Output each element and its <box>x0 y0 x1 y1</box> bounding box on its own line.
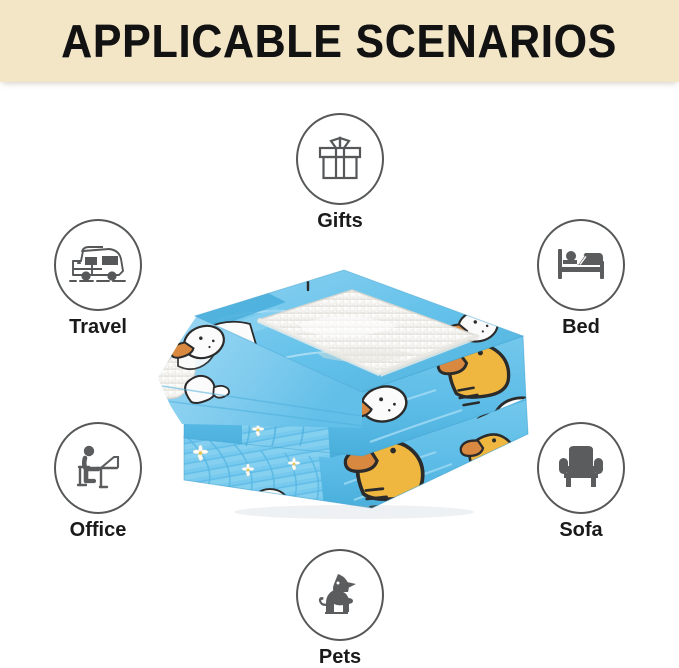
scenario-badge-office[interactable]: Office <box>50 422 146 540</box>
badge-circle <box>296 113 384 205</box>
scenario-label-bed: Bed <box>562 317 600 337</box>
dog-icon <box>314 570 366 620</box>
rv-camper-icon <box>69 241 127 289</box>
scenario-label-travel: Travel <box>69 317 127 337</box>
scenario-label-gifts: Gifts <box>317 211 363 231</box>
scenario-label-office: Office <box>70 520 127 540</box>
scenario-badge-bed[interactable]: Bed <box>533 219 629 337</box>
armchair-icon <box>555 444 607 492</box>
scenario-badge-gifts[interactable]: Gifts <box>292 113 388 231</box>
scenario-badge-travel[interactable]: Travel <box>50 219 146 337</box>
scenario-badge-pets[interactable]: Pets <box>292 549 388 667</box>
badge-circle <box>537 219 625 311</box>
badge-circle <box>537 422 625 514</box>
gift-icon <box>314 134 366 184</box>
badge-circle <box>54 422 142 514</box>
page-title: APPLICABLE SCENARIOS <box>62 18 618 64</box>
header-banner: APPLICABLE SCENARIOS <box>0 0 679 82</box>
badge-circle <box>54 219 142 311</box>
bed-person-icon <box>553 243 609 287</box>
badge-circle <box>296 549 384 641</box>
scenario-badge-sofa[interactable]: Sofa <box>533 422 629 540</box>
scenario-label-pets: Pets <box>319 647 361 667</box>
product-image-folded-blanket <box>148 258 540 526</box>
desk-worker-icon <box>72 443 124 493</box>
scenario-label-sofa: Sofa <box>559 520 602 540</box>
